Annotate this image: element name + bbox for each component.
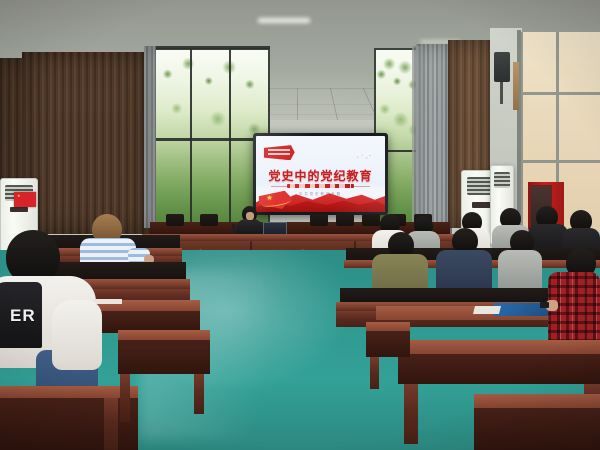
- bench-right-aisle-top: [366, 322, 410, 331]
- bench-leg: [194, 374, 204, 414]
- ac-display-panel: [472, 202, 492, 208]
- china-flag-icon: ★: [14, 192, 36, 207]
- slide-title: 党史中的党纪教育: [256, 167, 385, 184]
- notebook-on-desk[interactable]: [96, 299, 122, 304]
- front-chair: [310, 214, 328, 226]
- window-foliage: [154, 50, 268, 222]
- bench-right-aisle-front: [366, 331, 410, 357]
- slide-subtitle-text: [290, 184, 352, 187]
- curtain-left: [144, 46, 156, 228]
- curtain-right-inner: [412, 46, 422, 232]
- bench-leg: [120, 374, 130, 422]
- bench-left-aisle-top: [118, 330, 210, 340]
- slide-sparkle-decor: [354, 153, 372, 161]
- front-chair: [362, 214, 380, 226]
- paper-on-desk[interactable]: [473, 306, 501, 314]
- speaker-bracket: [500, 82, 503, 104]
- slide-star-icon: ★: [266, 195, 272, 202]
- window-far-right-mullion: [520, 160, 600, 163]
- slide-rule-left: [271, 186, 286, 187]
- foreground-student-sleeve: [52, 300, 102, 370]
- phone-device[interactable]: [540, 302, 549, 308]
- window-mullion: [152, 46, 270, 49]
- bench-left-aisle-front: [118, 340, 210, 374]
- slide-flag-text-lines: [268, 149, 290, 157]
- slide-rule-right: [354, 186, 369, 187]
- window-mullion: [229, 48, 231, 224]
- ceiling-light-panel: [258, 18, 310, 23]
- front-chair: [166, 214, 184, 226]
- presenter-face: [246, 212, 254, 220]
- ac-display-panel: [10, 207, 28, 212]
- microphone[interactable]: [232, 224, 235, 233]
- bench-leg: [104, 398, 118, 450]
- bench-foreground-right-front: [474, 408, 600, 450]
- jacket-text: ER: [10, 306, 36, 326]
- bench-row-left-1-top[interactable]: [0, 386, 138, 398]
- ac-vent: [494, 172, 510, 188]
- window-far-right-frame: [517, 30, 521, 234]
- bench-leg: [370, 357, 379, 389]
- bench-foreground-right-top[interactable]: [474, 394, 600, 408]
- photo-scene: 党史中的党纪教育 中共党史教育专题 ★ ★: [0, 0, 600, 450]
- slide-content: 党史中的党纪教育 中共党史教育专题 ★: [256, 136, 385, 212]
- wall-speaker-icon: [494, 52, 510, 82]
- wood-slat-panel-left: [22, 52, 150, 234]
- projection-screen[interactable]: 党史中的党纪教育 中共党史教育专题 ★: [253, 133, 388, 215]
- wall-wood-strip: [513, 62, 519, 110]
- window-far-right-mullion: [520, 92, 600, 95]
- presenter-body: [236, 219, 263, 235]
- flag-star: ★: [17, 194, 21, 198]
- desk-foreground-right-top[interactable]: [398, 340, 600, 354]
- desk-leg: [404, 384, 418, 444]
- window-mullion: [190, 48, 192, 224]
- front-chair: [336, 214, 354, 226]
- front-chair: [200, 214, 218, 226]
- desk-foreground-right-front: [398, 354, 600, 384]
